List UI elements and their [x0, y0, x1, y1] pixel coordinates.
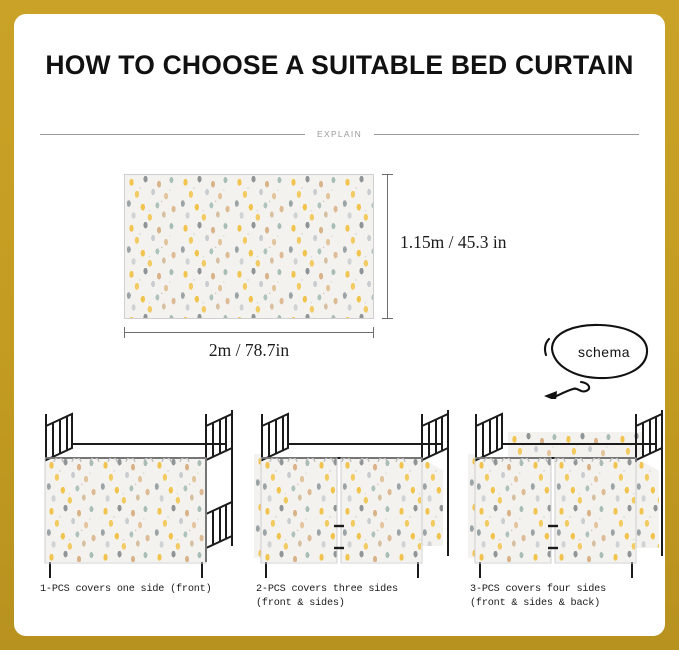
width-dimension-label: 2m / 78.7in: [124, 340, 374, 361]
bed-configuration-diagrams: 1-PCS covers one side (front): [14, 396, 665, 626]
diagram-two-pcs: 2-PCS covers three sides (front & sides): [252, 396, 464, 626]
height-dimension-line: [382, 174, 392, 319]
fabric-swatch: [124, 174, 374, 319]
dimension-stem-horizontal: [124, 332, 374, 333]
explain-divider: EXPLAIN: [40, 127, 639, 141]
divider-line-left: [40, 134, 305, 135]
caption-line-2: (front & sides & back): [470, 597, 679, 611]
caption-two-pcs: 2-PCS covers three sides (front & sides): [256, 583, 471, 611]
page-title: HOW TO CHOOSE A SUITABLE BED CURTAIN: [14, 50, 665, 81]
white-content-card: HOW TO CHOOSE A SUITABLE BED CURTAIN EXP…: [14, 14, 665, 636]
caption-line-1: 3-PCS covers four sides: [470, 584, 606, 595]
dimension-cap-bottom: [382, 318, 393, 319]
infographic-canvas: HOW TO CHOOSE A SUITABLE BED CURTAIN EXP…: [0, 0, 679, 650]
width-dimension-line: [124, 327, 374, 337]
caption-line-1: 1-PCS covers one side (front): [40, 584, 212, 595]
bed-frame-icon-three-pcs: [466, 396, 678, 581]
schema-callout: schema: [534, 319, 664, 399]
caption-three-pcs: 3-PCS covers four sides (front & sides &…: [470, 583, 679, 611]
diagram-three-pcs: 3-PCS covers four sides (front & sides &…: [466, 396, 678, 626]
bed-frame-icon-one-pcs: [36, 396, 248, 581]
divider-line-right: [374, 134, 639, 135]
caption-one-pcs: 1-PCS covers one side (front): [40, 583, 255, 597]
schema-label: schema: [578, 344, 630, 360]
divider-label: EXPLAIN: [305, 129, 374, 139]
dimension-stem-vertical: [387, 174, 388, 319]
caption-line-2: (front & sides): [256, 597, 471, 611]
diagram-one-pcs: 1-PCS covers one side (front): [36, 396, 248, 626]
caption-line-1: 2-PCS covers three sides: [256, 584, 398, 595]
bed-frame-icon-two-pcs: [252, 396, 464, 581]
dimension-cap-right: [373, 327, 374, 338]
height-dimension-label: 1.15m / 45.3 in: [400, 232, 506, 253]
